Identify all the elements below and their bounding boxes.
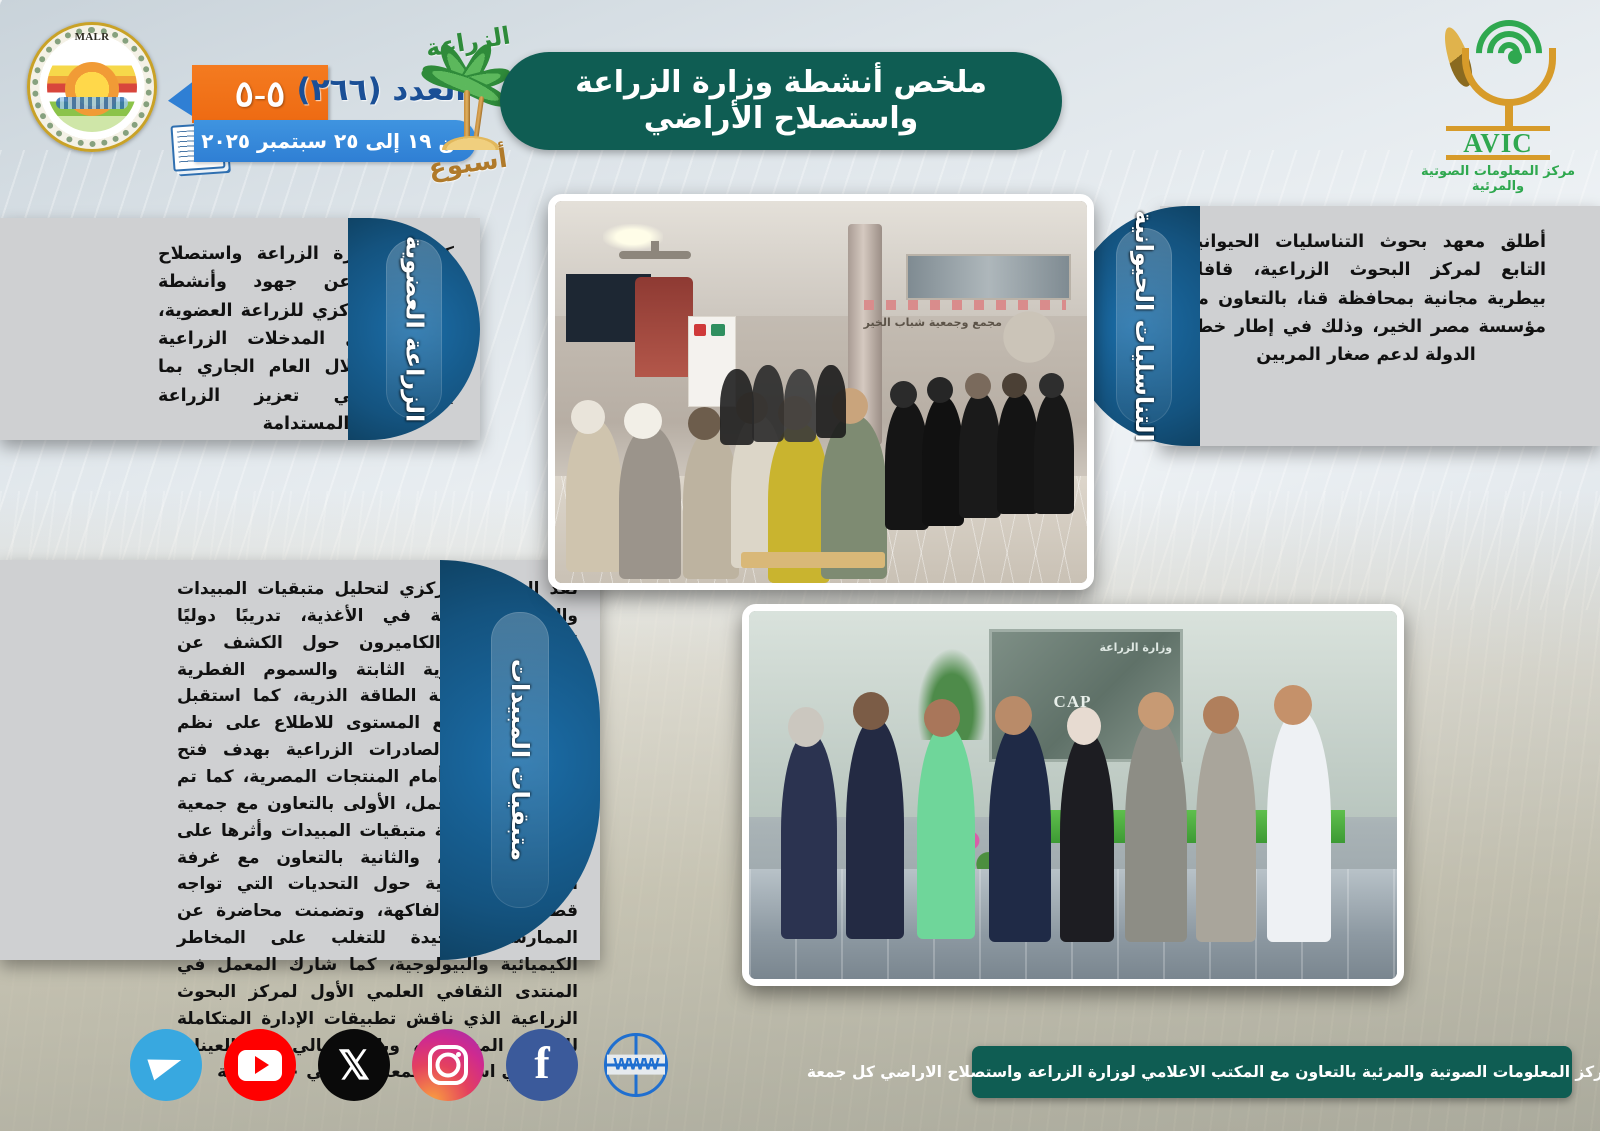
seated-person-back xyxy=(720,369,754,445)
avic-logo: AVIC مركز المعلومات الصوتية والمرئية xyxy=(1402,8,1588,186)
seated-person-dark xyxy=(997,392,1039,514)
photo-meeting-hall: مجمع وجمعية شباب الخير xyxy=(548,194,1094,590)
person-head xyxy=(1274,685,1312,725)
clerestory-windows xyxy=(906,254,1071,300)
person-figure xyxy=(1196,721,1256,942)
facebook-glyph: f xyxy=(534,1040,549,1086)
seated-person-dark xyxy=(1034,392,1074,514)
x-twitter-icon[interactable]: 𝕏 xyxy=(318,1029,390,1101)
telegram-glyph xyxy=(147,1050,184,1081)
tab-pill: التناسليات الحيوانية xyxy=(1116,228,1172,424)
website-icon[interactable]: WWW xyxy=(600,1029,672,1101)
ceiling-fan-icon xyxy=(619,251,691,259)
person-figure xyxy=(989,721,1051,942)
footer-banner-text: اصدار اسبوعي لمركز المعلومات الصوتية وال… xyxy=(807,1063,1600,1081)
person-figure xyxy=(846,718,904,939)
cup-icon xyxy=(1462,48,1556,106)
person-head xyxy=(890,381,917,408)
instagram-glyph xyxy=(428,1045,468,1085)
plaque-text-line1: وزارة الزراعة xyxy=(1100,640,1173,657)
news-card-animal-reproduction: التناسليات الحيوانية أطلق معهد بحوث التن… xyxy=(1160,206,1600,446)
page-title-text: ملخص أنشطة وزارة الزراعة واستصلاح الأراض… xyxy=(500,65,1062,137)
facebook-icon[interactable]: f xyxy=(506,1029,578,1101)
door xyxy=(635,277,693,376)
person-figure xyxy=(1125,718,1187,942)
photo-delegation-scene: وزارة الزراعة CAP xyxy=(749,611,1397,979)
avic-acronym-plate: AVIC xyxy=(1446,126,1550,160)
seated-person-back xyxy=(752,365,784,441)
photo-delegation-group: وزارة الزراعة CAP xyxy=(742,604,1404,986)
wall-caption: مجمع وجمعية شباب الخير xyxy=(864,316,1002,329)
footer-banner: اصدار اسبوعي لمركز المعلومات الصوتية وال… xyxy=(972,1046,1572,1098)
seated-person xyxy=(619,426,681,579)
malr-logo: MALR xyxy=(27,22,157,152)
news-card-tab-label: التناسليات الحيوانية xyxy=(1130,210,1158,442)
instagram-icon[interactable] xyxy=(412,1029,484,1101)
wooden-bench xyxy=(741,552,885,568)
malr-logo-text: MALR xyxy=(30,25,154,149)
wall-emblem-icon xyxy=(998,308,1060,366)
seated-person-dark xyxy=(959,392,1001,518)
news-card-pesticide-residues: نفذ المعمل المركزي لتحليل متبقيات المبيد… xyxy=(0,560,600,960)
youtube-glyph xyxy=(238,1050,282,1081)
palm-tree-icon xyxy=(424,52,512,152)
photo-meeting-scene: مجمع وجمعية شباب الخير xyxy=(555,201,1087,583)
person-figure xyxy=(1060,732,1114,942)
issue-badge-label: ٥-٥ xyxy=(235,73,286,115)
seated-person-dark xyxy=(922,396,964,526)
page-footer: WWW f 𝕏 اصدار اسبوعي لمركز المعلومات الص… xyxy=(0,991,1600,1131)
person-head xyxy=(965,373,991,399)
person-head xyxy=(853,692,889,730)
news-card-organic-agriculture: كشفت وزارة الزراعة واستصلاح الأراضي، عن … xyxy=(0,218,480,440)
avic-subtitle: مركز المعلومات الصوتية والمرئية xyxy=(1410,164,1586,194)
newsletter-page: MALR ٥-٥ العدد (٢٦٦) من ١٩ إلى ٢٥ سبتمبر… xyxy=(0,0,1600,1131)
page-header: MALR ٥-٥ العدد (٢٦٦) من ١٩ إلى ٢٥ سبتمبر… xyxy=(0,0,1600,190)
person-figure xyxy=(917,725,975,938)
person-head xyxy=(1067,707,1101,745)
seated-person-back xyxy=(784,369,816,442)
seated-person-back xyxy=(816,365,846,438)
social-links-row: WWW f 𝕏 xyxy=(130,1029,672,1101)
x-glyph: 𝕏 xyxy=(338,1042,370,1089)
seated-person xyxy=(566,419,622,572)
person-head xyxy=(1002,373,1027,398)
avic-acronym: AVIC xyxy=(1463,128,1533,159)
person-head xyxy=(927,377,953,403)
person-head xyxy=(788,707,824,747)
person-head xyxy=(571,400,605,434)
tab-pill: الزراعة العضوية xyxy=(386,239,442,419)
person-figure xyxy=(781,732,837,938)
news-card-tab-label: متبقيات المبيدات xyxy=(506,659,534,861)
news-card-body: أطلق معهد بحوث التناسليات الحيوانية التا… xyxy=(1160,206,1600,392)
globe-icon: WWW xyxy=(604,1033,668,1097)
malr-acronym: MALR xyxy=(30,31,154,43)
news-card-tab-label: الزراعة العضوية xyxy=(400,236,428,423)
person-figure xyxy=(1267,710,1331,942)
person-head xyxy=(995,696,1032,735)
person-head xyxy=(924,699,960,737)
website-label: WWW xyxy=(607,1055,665,1075)
telegram-icon[interactable] xyxy=(130,1029,202,1101)
person-head xyxy=(1138,692,1174,730)
person-head xyxy=(1203,696,1239,734)
person-head xyxy=(1039,373,1064,398)
youtube-icon[interactable] xyxy=(224,1029,296,1101)
tab-pill: متبقيات المبيدات xyxy=(491,612,549,908)
page-title: ملخص أنشطة وزارة الزراعة واستصلاح الأراض… xyxy=(500,52,1062,150)
